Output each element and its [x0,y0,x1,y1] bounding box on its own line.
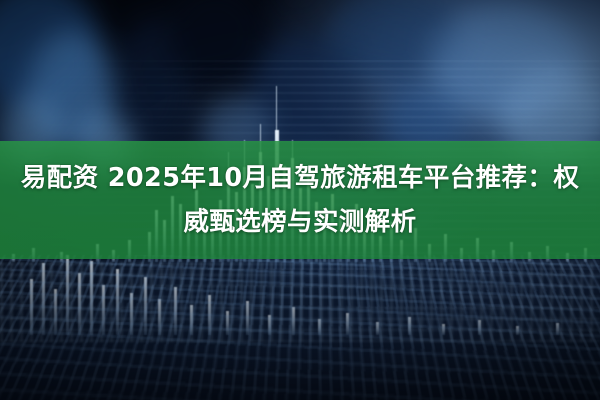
background-candlestick-chart-lower [0,255,600,335]
banner-title: 易配资 2025年10月自驾旅游租车平台推荐：权 威甄选榜与实测解析 [0,141,600,259]
background-data-grid [0,255,600,400]
banner-title-line-2: 威甄选榜与实测解析 [183,200,416,244]
background-data-grid-secondary [0,262,600,342]
banner-title-line-1: 易配资 2025年10月自驾旅游租车平台推荐：权 [21,156,579,200]
article-banner-image: 易配资 2025年10月自驾旅游租车平台推荐：权 威甄选榜与实测解析 [0,0,600,400]
